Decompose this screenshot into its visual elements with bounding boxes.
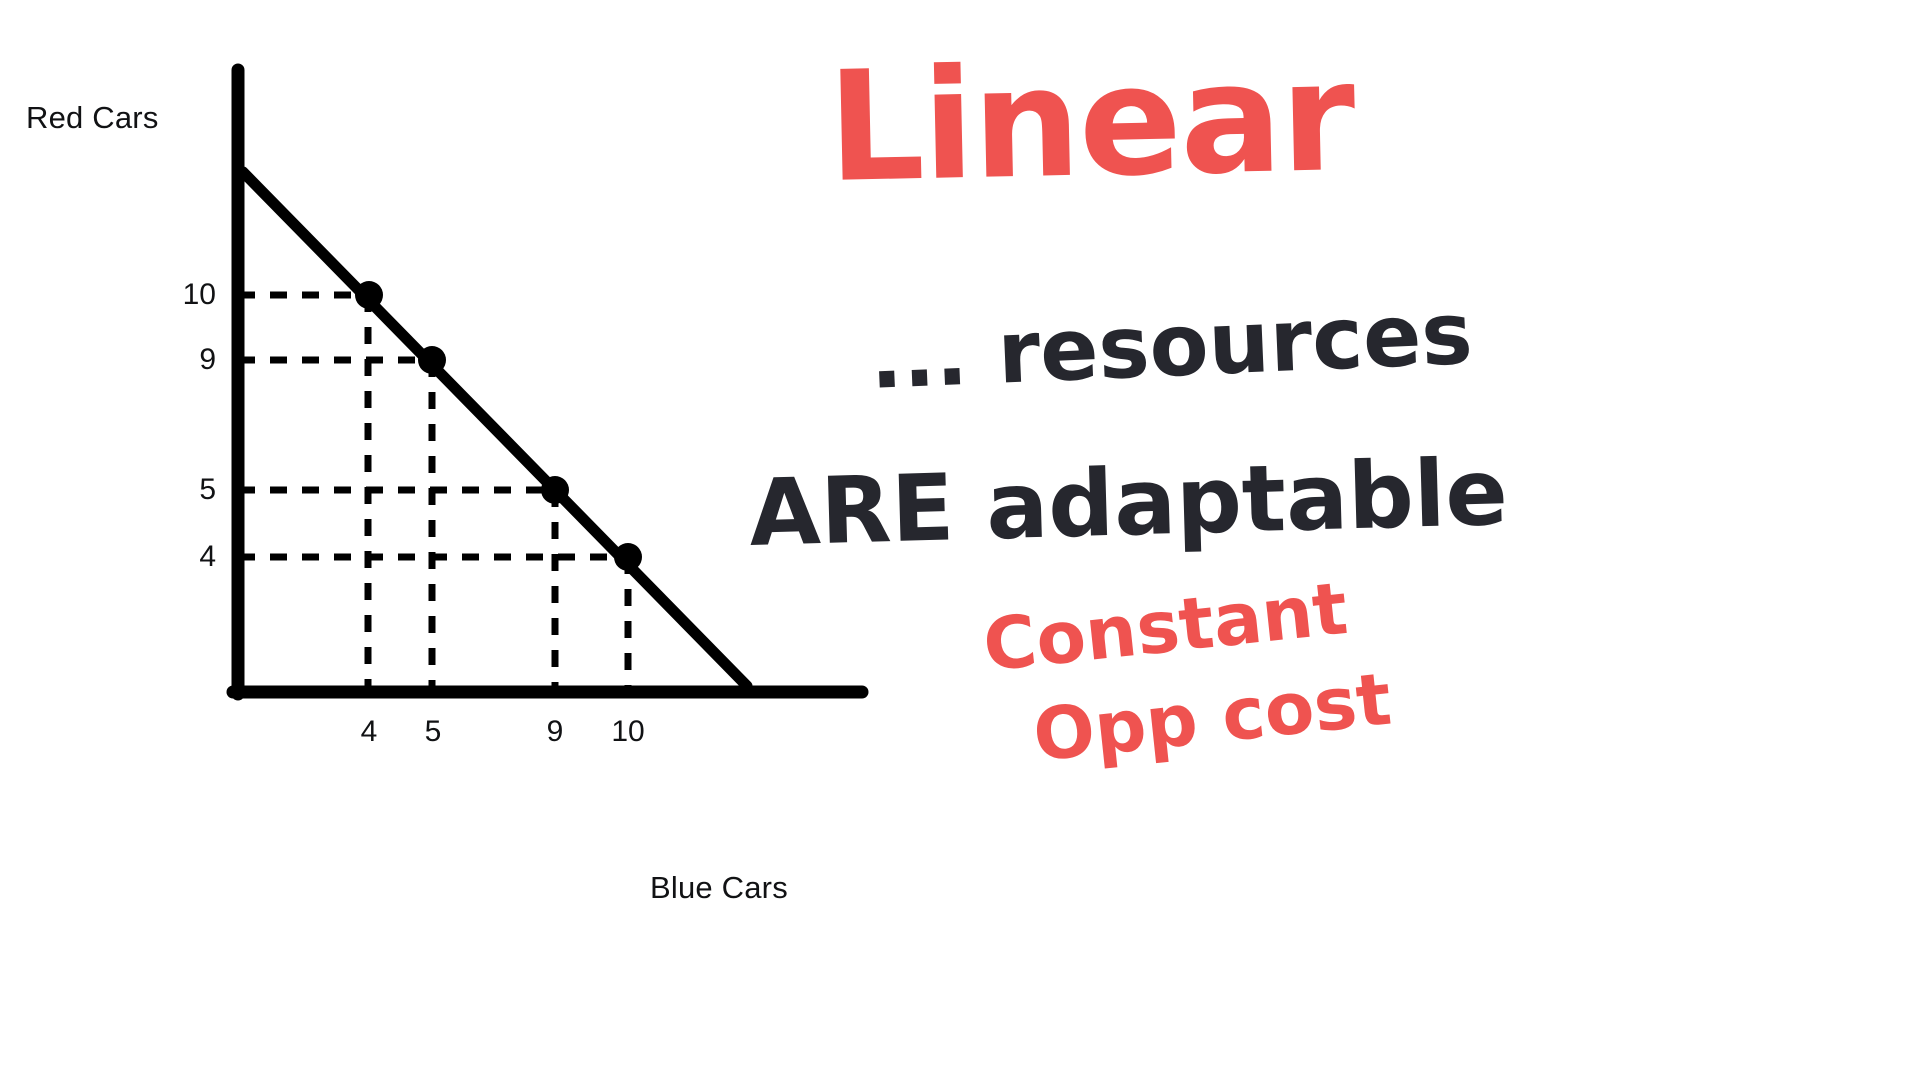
- x-tick-label-4: 4: [345, 715, 393, 749]
- data-point-5-9: [418, 346, 446, 374]
- ppf-frontier-line: [243, 172, 747, 686]
- y-tick-label-9: 9: [168, 343, 216, 377]
- x-tick-label-10: 10: [604, 715, 652, 749]
- annotation-resources: ... resources: [868, 291, 1474, 402]
- y-tick-label-4: 4: [168, 540, 216, 574]
- data-point-10-4: [614, 543, 642, 571]
- y-tick-label-5: 5: [168, 473, 216, 507]
- slide-canvas: Red Cars Blue Cars 10 9 5 4 4 5 9 10 Lin…: [0, 0, 1920, 1080]
- annotation-are-adaptable: ARE adaptable: [748, 447, 1509, 560]
- y-tick-label-10: 10: [168, 278, 216, 312]
- annotation-opp-cost: Opp cost: [1030, 662, 1394, 771]
- y-axis-title: Red Cars: [26, 100, 159, 136]
- x-tick-label-9: 9: [531, 715, 579, 749]
- x-tick-label-5: 5: [409, 715, 457, 749]
- data-point-4-10: [355, 281, 383, 309]
- data-point-9-5: [541, 476, 569, 504]
- annotation-linear: Linear: [826, 41, 1355, 204]
- x-axis-title: Blue Cars: [650, 870, 788, 906]
